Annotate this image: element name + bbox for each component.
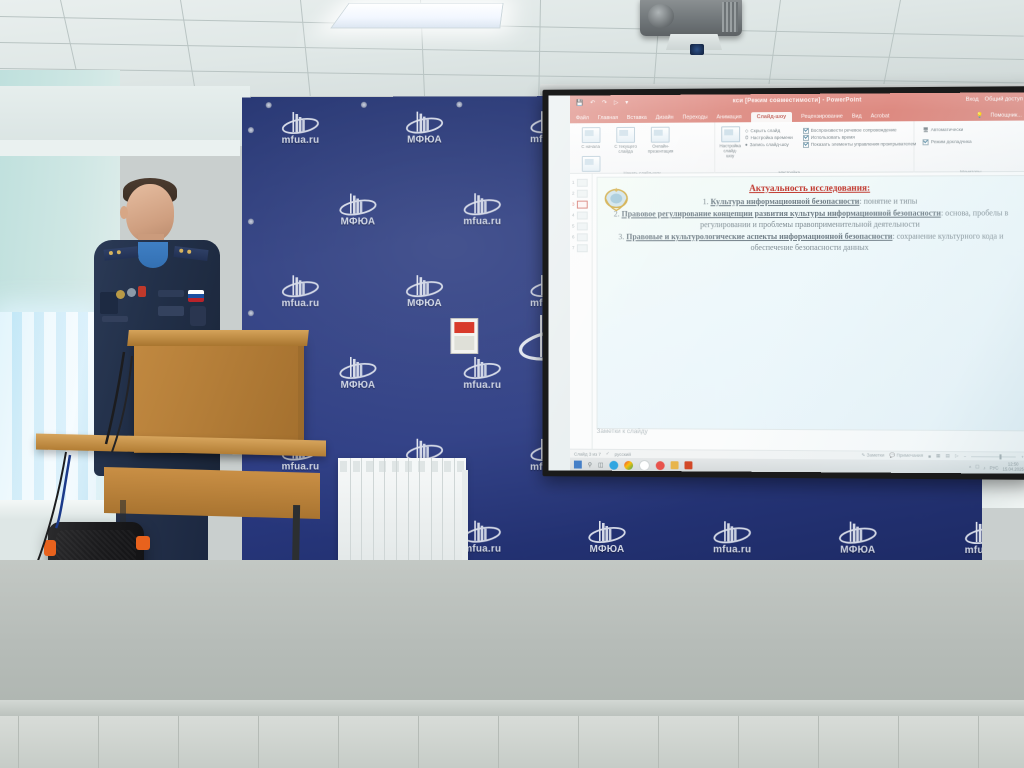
command-monitor-auto[interactable]: 🖥 Автоматически: [923, 126, 1019, 134]
normal-view-icon[interactable]: ■: [928, 453, 931, 458]
banner-logo-tile: МФЮА: [382, 274, 468, 309]
ribbon-button-setup-show[interactable]: Настройка слайд-шоу: [719, 124, 741, 174]
floor-tile-line: [98, 716, 99, 768]
taskbar-language[interactable]: РУС: [990, 465, 999, 470]
banner-logo-tile: mfua.ru: [689, 520, 775, 555]
mfua-mark-icon: [963, 521, 982, 545]
projection-screen: 💾 ↶ ↷ ▷ ▾ кси [Режим совместимости] - Po…: [548, 92, 1024, 473]
slide-thumbnail[interactable]: 7: [570, 242, 592, 253]
setup-commands[interactable]: ◇ Скрыть слайд ⏱ Настройка времени ● Зап…: [741, 124, 797, 174]
bullet-number: 1.: [703, 197, 709, 206]
ribbon-button-online-presentation[interactable]: Онлайн-презентация: [644, 125, 678, 154]
podium-top-surface: [127, 330, 309, 346]
chest-badge-3: [138, 286, 146, 297]
notes-placeholder[interactable]: Заметки к слайду: [597, 428, 1024, 451]
banner-logo-tile: mfua.ru: [258, 111, 343, 146]
floor-tile-line: [978, 716, 979, 768]
thumbnail-preview: [576, 189, 587, 197]
command-record-slideshow[interactable]: ● Запись слайд-шоу: [745, 141, 793, 148]
slide-bullet: 1. Культура информационной безопасности:…: [607, 195, 1014, 207]
floor-tile-line: [258, 716, 259, 768]
banner-logo-tile: mfua.ru: [940, 521, 981, 556]
floor-tile-line: [738, 716, 739, 768]
slide-title: Актуальность исследования:: [598, 182, 1024, 194]
from-beginning-icon: [581, 127, 600, 143]
ribbon-tab-главная[interactable]: Главная: [598, 115, 618, 121]
from-current-slide-icon: [616, 127, 635, 143]
mfua-mark-icon: [461, 192, 503, 216]
sleeve-insignia: [190, 306, 206, 326]
stage-front-tiles: [0, 716, 1024, 768]
slide-thumbnail[interactable]: 1: [570, 177, 592, 188]
floor-tile-line: [178, 716, 179, 768]
powerpoint-icon[interactable]: [685, 461, 693, 469]
mfua-caption: МФЮА: [315, 216, 400, 227]
show-media-controls-label: Показать элементы управления проигрывате…: [811, 140, 916, 148]
current-slide[interactable]: Актуальность исследования: 1. Культура и…: [597, 175, 1024, 431]
mfua-mark-icon: [404, 111, 446, 135]
sorter-view-icon[interactable]: ▦: [936, 453, 940, 459]
mfua-caption: mfua.ru: [689, 544, 775, 555]
ribbon-button-from-current[interactable]: С текущего слайда: [609, 125, 643, 154]
ribbon-tab-вид[interactable]: Вид: [852, 113, 862, 119]
thumbnail-number: 1: [572, 180, 575, 185]
helper-label[interactable]: Помощник...: [991, 112, 1022, 118]
bullet-emphasis: Правовое регулирование концепции развити…: [622, 209, 941, 219]
monitor-commands[interactable]: 🖥 Автоматически Режим докладчика: [919, 123, 1023, 146]
comments-button[interactable]: 💬 Примечания: [889, 453, 923, 459]
powerpoint-body: 1234567 Актуальность исследования:: [570, 172, 1024, 474]
floor-tile-line: [578, 716, 579, 768]
thumbnail-number: 2: [572, 191, 575, 196]
ribbon-tab-слайд-шоу[interactable]: Слайд-шоу: [751, 111, 792, 121]
bullet-number: 3.: [618, 232, 624, 241]
slide-thumbnail[interactable]: 2: [570, 188, 592, 199]
slide-indicator: Слайд 3 из 7: [574, 451, 601, 456]
mfua-mark-icon: [461, 356, 503, 380]
from-beginning-label: С начала: [574, 144, 607, 149]
mfua-caption: МФЮА: [564, 544, 650, 555]
banner-logo-tile: МФЮА: [315, 356, 400, 391]
desk-front-panel: [104, 467, 320, 519]
yandex-browser-icon[interactable]: [639, 460, 650, 471]
floor-tile-line: [338, 716, 339, 768]
state-emblem-icon: [603, 185, 629, 213]
task-view-icon[interactable]: ◫: [598, 461, 604, 468]
online-presentation-icon: [651, 127, 670, 143]
chest-badge-1: [116, 290, 125, 299]
presenter-view-label: Режим докладчика: [931, 138, 972, 145]
chest-badge-2: [127, 288, 136, 297]
checkbox-show-media-controls[interactable]: Показать элементы управления проигрывате…: [803, 140, 916, 148]
banner-logo-tile: mfua.ru: [439, 192, 525, 227]
slide-bullet: 2. Правовое регулирование концепции разв…: [607, 207, 1014, 230]
search-icon[interactable]: ⚲: [588, 461, 592, 468]
thumbnail-preview: [576, 222, 587, 230]
floor-tile-line: [818, 716, 819, 768]
ribbon[interactable]: С начала С текущего слайда Онлайн-презен…: [570, 121, 1024, 174]
floor-tile-line: [658, 716, 659, 768]
mfua-mark-icon: [837, 521, 879, 545]
checkbox-icon[interactable]: [803, 134, 809, 140]
chrome-icon[interactable]: [624, 460, 633, 469]
ribbon-tab-acrobat[interactable]: Acrobat: [871, 113, 890, 119]
network-icon[interactable]: ☐: [975, 464, 979, 470]
ribbon-group-setup: Настройка слайд-шоу ◇ Скрыть слайд ⏱ Нас…: [716, 121, 915, 176]
bullet-emphasis: Культура информационной безопасности: [710, 197, 859, 206]
record-icon: ●: [745, 141, 748, 148]
ribbon-tab-рецензирование[interactable]: Рецензирование: [801, 113, 843, 119]
tell-me-helper[interactable]: 💡 Помощник...: [977, 112, 1022, 118]
online-presentation-label: Онлайн-презентация: [644, 144, 678, 154]
mfua-caption: МФЮА: [382, 298, 468, 309]
banner-logo-tile: МФЮА: [564, 520, 650, 555]
language-label[interactable]: русский: [615, 451, 631, 456]
monitor-icon: 🖥: [923, 126, 929, 133]
slideshow-view-icon[interactable]: ▷: [955, 453, 959, 459]
slide-thumbnail[interactable]: 3: [570, 199, 592, 210]
mfua-caption: mfua.ru: [439, 216, 525, 227]
mfua-mark-icon: [337, 356, 379, 380]
thumbnail-number: 4: [572, 213, 575, 218]
floor-tile-line: [498, 716, 499, 768]
spellcheck-icon[interactable]: ✓: [606, 451, 610, 457]
share-button[interactable]: Общий доступ: [985, 96, 1023, 102]
zoom-in-icon[interactable]: +: [1021, 454, 1024, 459]
thumbnail-number: 7: [572, 245, 575, 250]
setup-show-label: Настройка слайд-шоу: [719, 143, 741, 158]
floor-tile-line: [418, 716, 419, 768]
thumbnail-preview: [576, 178, 587, 186]
ribbon-tab-переходы[interactable]: Переходы: [682, 114, 707, 120]
presenter-ear: [120, 206, 128, 219]
chest-label: [158, 306, 184, 316]
custom-slideshow-icon: [581, 156, 600, 172]
ribbon-tab-дизайн[interactable]: Дизайн: [656, 114, 674, 120]
checkbox-icon[interactable]: [923, 139, 929, 145]
thumbnail-preview: [576, 200, 587, 208]
setup-slideshow-icon: [721, 126, 740, 142]
mfua-mark-icon: [337, 192, 379, 216]
chest-tape: [158, 290, 184, 297]
bullet-emphasis: Правовые и культурологические аспекты ин…: [626, 232, 892, 241]
slide-body-list: 1. Культура информационной безопасности:…: [607, 195, 1014, 253]
projector-lens-icon: [690, 44, 704, 55]
ceiling-tile-grid: [0, 0, 1024, 96]
volume-icon[interactable]: ♪: [983, 465, 985, 470]
banner-logo-tile: МФЮА: [315, 192, 400, 227]
mfua-caption: mfua.ru: [258, 298, 343, 309]
mfua-mark-icon: [280, 111, 322, 135]
banner-logo-tile: mfua.ru: [258, 274, 343, 309]
wall-warning-sign: [450, 318, 478, 354]
chevron-up-icon[interactable]: ^: [969, 465, 971, 470]
ribbon-tab-вставка[interactable]: Вставка: [627, 114, 647, 120]
ceiling-light-panel: [330, 3, 503, 28]
slide-thumbnail[interactable]: 6: [570, 231, 592, 242]
acrobat-reader-icon[interactable]: [656, 461, 665, 470]
banner-logo-tile: МФЮА: [382, 110, 468, 145]
from-current-label: С текущего слайда: [609, 144, 643, 154]
mfua-caption: МФЮА: [315, 380, 400, 391]
mfua-caption: МФЮА: [815, 545, 902, 556]
telegram-icon[interactable]: [609, 460, 618, 469]
setup-checkboxes[interactable]: Воспроизвести речевое сопровождение Испо…: [799, 123, 920, 174]
mfua-caption: mfua.ru: [940, 545, 981, 556]
ribbon-button-from-beginning[interactable]: С начала: [574, 125, 607, 149]
floor-tile-line: [18, 716, 19, 768]
signin-label[interactable]: Вход: [966, 97, 979, 103]
thumbnail-preview: [576, 211, 587, 219]
ceiling-projector: [640, 0, 742, 36]
window-blinds: [0, 312, 96, 512]
mfua-mark-icon: [586, 520, 628, 544]
banner-logo-tile: МФЮА: [815, 520, 902, 555]
checkbox-icon[interactable]: [803, 141, 809, 147]
lightbulb-icon: 💡: [977, 112, 984, 118]
wall-radiator: [338, 458, 466, 564]
presenter-blue-shirt: [138, 242, 168, 268]
hide-slide-icon: ◇: [745, 127, 749, 134]
upper-left-wall: [0, 86, 250, 146]
monitor-auto-label: Автоматически: [931, 126, 963, 133]
powerpoint-window: 💾 ↶ ↷ ▷ ▾ кси [Режим совместимости] - Po…: [570, 92, 1024, 473]
slide-thumbnail-pane[interactable]: 1234567: [570, 174, 593, 472]
presentation-room-photo: mfua.ruМФЮАmfua.ruМФЮАmfua.ruМФЮАМФЮАmfu…: [0, 0, 1024, 768]
window: [0, 312, 96, 512]
wall-trim: [0, 140, 240, 156]
file-explorer-icon[interactable]: [671, 461, 679, 469]
thumbnail-number: 3: [572, 202, 575, 207]
checkbox-icon[interactable]: [803, 127, 809, 133]
thumbnail-preview: [576, 233, 587, 241]
mfua-mark-icon: [404, 274, 446, 298]
thumbnail-number: 6: [572, 234, 575, 239]
mfua-mark-icon: [711, 520, 753, 544]
mfua-caption: mfua.ru: [258, 135, 343, 146]
comment-icon: 💬: [889, 453, 895, 458]
ribbon-group-start-show: С начала С текущего слайда Онлайн-презен…: [570, 122, 716, 176]
radiator-pipe: [462, 470, 468, 562]
ribbon-tab-файл[interactable]: Файл: [576, 115, 589, 121]
thumbnail-number: 5: [572, 223, 575, 228]
taskbar-clock[interactable]: 12:50 15.04.2025: [1003, 463, 1024, 472]
slide-thumbnail[interactable]: 4: [570, 210, 592, 221]
slide-editing-area[interactable]: Актуальность исследования: 1. Культура и…: [593, 172, 1024, 474]
podium-front-panel: [138, 346, 298, 450]
slide-thumbnail[interactable]: 5: [570, 220, 592, 231]
ceiling: [0, 0, 1024, 96]
notes-button[interactable]: ✎ Заметки: [861, 452, 884, 458]
zoom-out-icon[interactable]: −: [964, 454, 967, 459]
checkbox-presenter-view[interactable]: Режим докладчика: [923, 138, 1019, 146]
name-tape: [102, 316, 128, 322]
mfua-caption: mfua.ru: [439, 380, 525, 391]
speaker-accent-tr: [136, 536, 150, 550]
reading-view-icon[interactable]: ▤: [946, 453, 950, 459]
zoom-slider[interactable]: [971, 456, 1016, 457]
speaker-accent-tl: [44, 540, 56, 556]
bullet-rest: : понятие и типы: [859, 197, 917, 206]
slide-bullet: 3. Правовые и культурологические аспекты…: [607, 231, 1014, 254]
mfua-mark-icon: [280, 274, 322, 298]
ribbon-group-monitors: 🖥 Автоматически Режим докладчика Монитор…: [915, 121, 1024, 176]
thumbnail-preview: [576, 244, 587, 252]
flag-patch-icon: [188, 290, 204, 302]
record-slideshow-label: Запись слайд-шоу: [750, 141, 789, 148]
notes-icon: ✎: [861, 452, 865, 457]
timer-icon: ⏱: [745, 134, 749, 141]
banner-logo-tile: mfua.ru: [439, 356, 525, 391]
powerpoint-document-title: кси [Режим совместимости] - PowerPoint: [570, 96, 1024, 105]
clock-date: 15.04.2025: [1003, 467, 1024, 472]
ribbon-tab-анимация[interactable]: Анимация: [717, 114, 742, 120]
windows-start-icon[interactable]: [574, 461, 582, 469]
mfua-caption: МФЮА: [382, 134, 468, 145]
floor-tile-line: [898, 716, 899, 768]
